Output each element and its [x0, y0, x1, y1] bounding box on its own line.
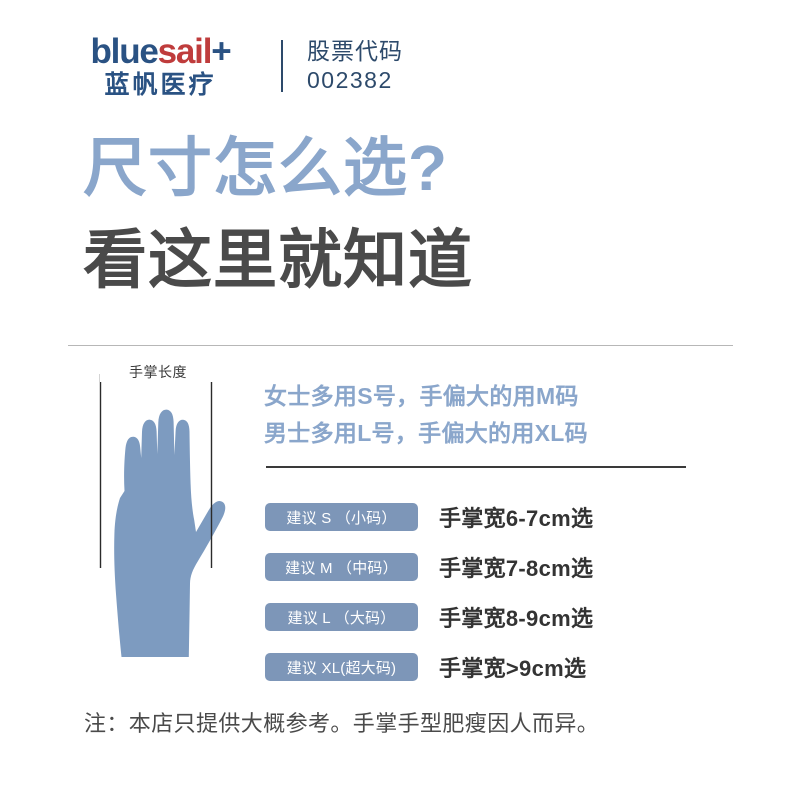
- size-measurement-text: 手掌宽8-9cm选: [439, 601, 593, 633]
- header-section-divider: [68, 345, 733, 346]
- hand-illustration-panel: 手掌长度: [78, 362, 253, 692]
- disclaimer-note: 注：本店只提供大概参考。手掌手型肥瘦因人而异。: [84, 706, 599, 738]
- table-row: 建议 XL(超大码) 手掌宽>9cm选: [265, 642, 725, 692]
- logo-chinese-name: 蓝帆医疗: [104, 72, 216, 98]
- status-badge: 建议 L （大码）: [265, 603, 418, 631]
- size-measurement-text: 手掌宽7-8cm选: [439, 551, 593, 583]
- page-title-primary: 尺寸怎么选?: [83, 136, 448, 200]
- palm-length-bracket-icon: [78, 362, 253, 692]
- palm-length-label: 手掌长度: [100, 362, 216, 382]
- size-advice-line-men: 男士多用L号，手偏大的用XL码: [264, 415, 704, 452]
- brand-logo: bluesail+ 蓝帆医疗: [58, 34, 263, 98]
- header-vertical-divider: [281, 40, 283, 92]
- stock-code-block: 股票代码 002382: [307, 37, 403, 96]
- page-title-secondary: 看这里就知道: [83, 228, 473, 292]
- status-badge: 建议 S （小码）: [265, 503, 418, 531]
- logo-plus-icon: +: [211, 32, 230, 71]
- logo-wordmark: bluesail+: [91, 34, 231, 69]
- size-measurement-text: 手掌宽6-7cm选: [439, 501, 593, 533]
- size-advice-line-women: 女士多用S号，手偏大的用M码: [264, 378, 704, 415]
- stock-code-label: 股票代码: [307, 37, 403, 66]
- size-measurement-text: 手掌宽>9cm选: [439, 651, 586, 683]
- table-row: 建议 S （小码） 手掌宽6-7cm选: [265, 492, 725, 542]
- table-row: 建议 L （大码） 手掌宽8-9cm选: [265, 592, 725, 642]
- size-recommendation-table: 建议 S （小码） 手掌宽6-7cm选 建议 M （中码） 手掌宽7-8cm选 …: [265, 492, 725, 692]
- table-row: 建议 M （中码） 手掌宽7-8cm选: [265, 542, 725, 592]
- status-badge: 建议 XL(超大码): [265, 653, 418, 681]
- logo-word-red: sail: [158, 32, 212, 71]
- size-advice-block: 女士多用S号，手偏大的用M码 男士多用L号，手偏大的用XL码: [264, 378, 704, 453]
- stock-code-value: 002382: [307, 66, 403, 95]
- size-guide-page: bluesail+ 蓝帆医疗 股票代码 002382 尺寸怎么选? 看这里就知道: [0, 0, 800, 800]
- brand-header: bluesail+ 蓝帆医疗 股票代码 002382: [58, 28, 478, 104]
- logo-word-blue: blue: [91, 32, 158, 71]
- advice-section-divider: [266, 466, 686, 468]
- status-badge: 建议 M （中码）: [265, 553, 418, 581]
